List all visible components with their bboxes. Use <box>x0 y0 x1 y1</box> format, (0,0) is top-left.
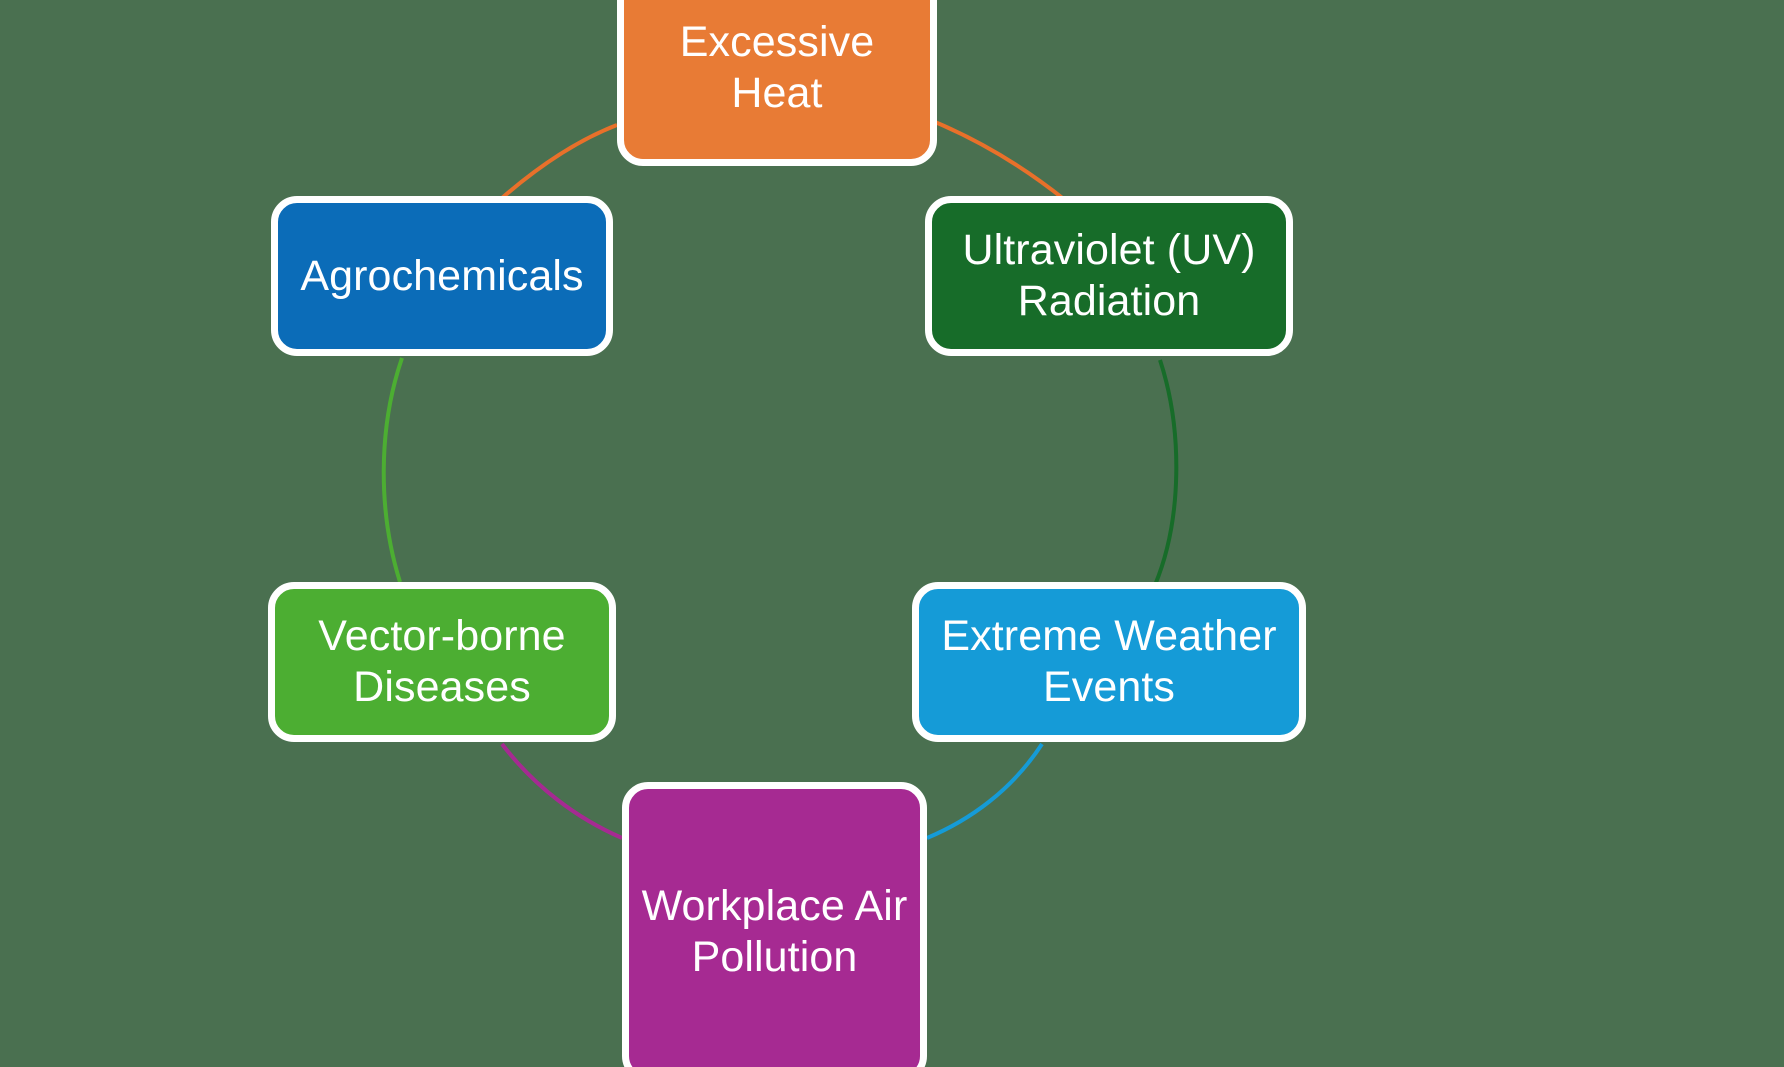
connector-weather-to-air <box>927 744 1042 838</box>
node-vector-borne[interactable]: Vector-borne Diseases <box>268 582 616 742</box>
connector-agro-to-heat <box>502 125 617 198</box>
node-vector-borne-label: Vector-borne Diseases <box>318 611 565 712</box>
connector-air-to-vector <box>502 744 622 838</box>
node-agrochemicals-label: Agrochemicals <box>300 251 583 302</box>
node-workplace-air[interactable]: Workplace Air Pollution <box>622 782 927 1067</box>
connector-heat-to-uv <box>935 122 1065 200</box>
node-extreme-weather[interactable]: Extreme Weather Events <box>912 582 1306 742</box>
diagram-canvas: Excessive Heat Ultraviolet (UV) Radiatio… <box>0 0 1784 1067</box>
node-uv-radiation[interactable]: Ultraviolet (UV) Radiation <box>925 196 1293 356</box>
node-excessive-heat-label: Excessive Heat <box>634 17 920 118</box>
node-extreme-weather-label: Extreme Weather Events <box>941 611 1276 712</box>
node-uv-radiation-label: Ultraviolet (UV) Radiation <box>962 225 1255 326</box>
node-workplace-air-label: Workplace Air Pollution <box>642 881 908 982</box>
connector-vector-to-agro <box>384 358 402 582</box>
node-excessive-heat[interactable]: Excessive Heat <box>617 0 937 166</box>
node-agrochemicals[interactable]: Agrochemicals <box>271 196 613 356</box>
connector-uv-to-weather <box>1155 360 1176 585</box>
